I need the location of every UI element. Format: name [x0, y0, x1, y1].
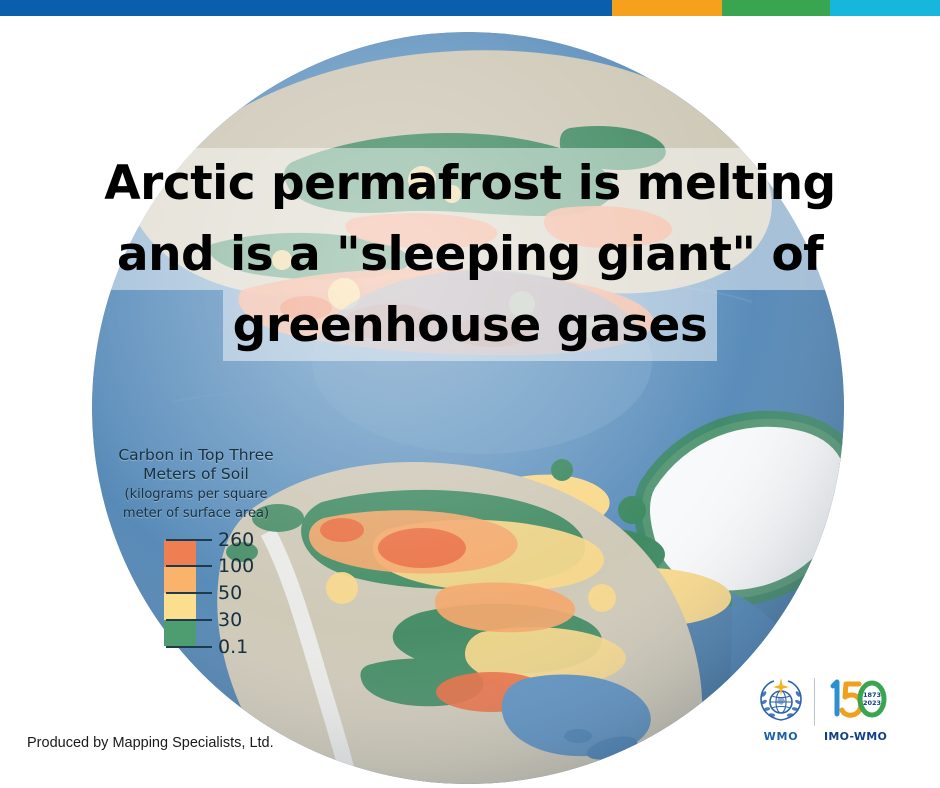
topbar-band-cyan	[830, 0, 940, 16]
legend-color-scale: 260 100 50 30 0.1	[164, 532, 284, 654]
legend-tick-list: 260 100 50 30 0.1	[164, 532, 284, 654]
logo-divider	[814, 678, 815, 726]
legend-tick-rule	[166, 565, 212, 567]
anniversary-year-to: 2023	[863, 699, 881, 707]
legend-tick-value: 260	[218, 531, 254, 550]
legend-tick-30: 30	[166, 610, 284, 630]
legend-title-line-2: Meters of Soil	[108, 465, 284, 484]
legend-tick-rule	[166, 619, 212, 621]
topbar-band-orange	[612, 0, 722, 16]
legend-tick-0.1: 0.1	[166, 637, 284, 657]
legend-tick-value: 50	[218, 584, 242, 603]
wmo-logo: WMO	[757, 676, 805, 743]
legend-subtitle-line-2: meter of surface area)	[108, 506, 284, 522]
legend-tick-rule	[166, 539, 212, 541]
infographic-poster: Arctic permafrost is melting and is a "s…	[0, 0, 940, 788]
legend-tick-rule	[166, 592, 212, 594]
top-color-bar	[0, 0, 940, 16]
globe-svg	[92, 32, 844, 784]
legend-tick-260: 260	[166, 530, 284, 550]
legend-tick-50: 50	[166, 583, 284, 603]
legend-tick-value: 0.1	[218, 638, 248, 657]
globe-image	[92, 32, 844, 784]
topbar-band-green	[722, 0, 830, 16]
anniversary-year-from: 1873	[863, 691, 881, 699]
imo-wmo-caption: IMO-WMO	[824, 730, 887, 743]
legend-tick-100: 100	[166, 556, 284, 576]
map-legend: Carbon in Top Three Meters of Soil (kilo…	[108, 446, 284, 654]
wmo-caption: WMO	[757, 730, 805, 743]
legend-subtitle-line-1: (kilograms per square	[108, 487, 284, 503]
legend-tick-value: 30	[218, 611, 242, 630]
imo-wmo-150-logo: 1873 2023 IMO-WMO	[824, 676, 887, 743]
globe-shading	[92, 32, 844, 784]
topbar-band-blue	[0, 0, 612, 16]
legend-tick-value: 100	[218, 557, 254, 576]
legend-title-line-1: Carbon in Top Three	[108, 446, 284, 465]
producer-credit: Produced by Mapping Specialists, Ltd.	[27, 735, 274, 751]
anniversary-150-icon: 1873 2023	[825, 676, 887, 724]
logo-group: WMO 1873 2023 IMO-WMO	[757, 676, 887, 743]
legend-tick-rule	[166, 646, 212, 648]
wmo-emblem-icon	[757, 676, 805, 724]
